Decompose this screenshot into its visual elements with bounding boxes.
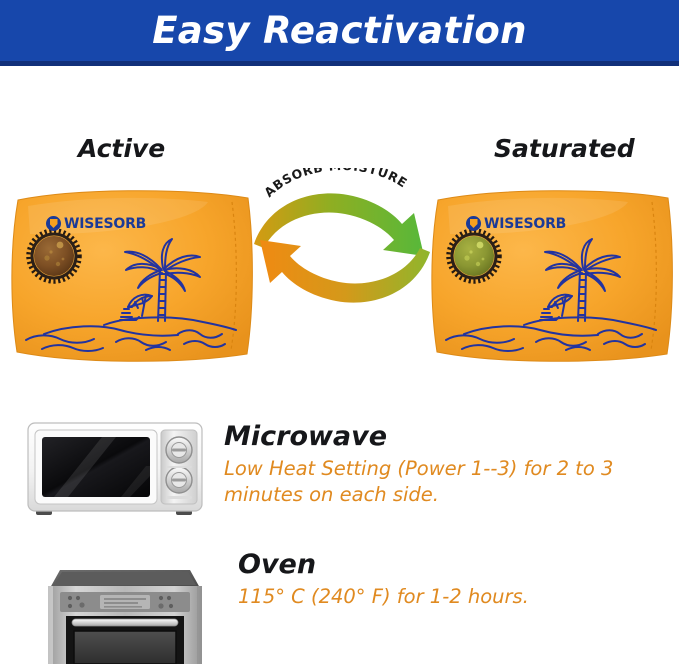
page-title: Easy Reactivation: [152, 9, 527, 52]
instruction-row-microwave: Microwave Low Heat Setting (Power 1--3) …: [0, 408, 679, 540]
state-label-active: Active: [78, 134, 165, 163]
state-label-saturated: Saturated: [494, 134, 635, 163]
absorb-moisture-cycle: ABSORB MOISTURE: [252, 168, 432, 328]
oven-text-block: Oven 115° C (240° F) for 1-2 hours.: [238, 540, 679, 610]
wisesorb-shield-icon: [466, 216, 481, 231]
brand-logo-saturated: WISESORB: [466, 216, 566, 231]
desiccant-bag-active: WISESORB: [8, 184, 256, 366]
microwave-description: Low Heat Setting (Power 1--3) for 2 to 3…: [224, 456, 634, 507]
brand-logo-active: WISESORB: [46, 216, 146, 231]
brand-name: WISESORB: [64, 217, 146, 231]
oven-title: Oven: [238, 550, 679, 580]
desiccant-bag-saturated: WISESORB: [428, 184, 676, 366]
instructions-section: Microwave Low Heat Setting (Power 1--3) …: [0, 408, 679, 670]
microwave-text-block: Microwave Low Heat Setting (Power 1--3) …: [224, 408, 679, 507]
header-banner: Easy Reactivation: [0, 0, 679, 66]
microwave-icon: [24, 416, 224, 522]
oven-description: 115° C (240° F) for 1-2 hours.: [238, 584, 648, 609]
instruction-row-oven: Oven 115° C (240° F) for 1-2 hours.: [0, 540, 679, 670]
oven-icon: [38, 552, 238, 664]
brand-name: WISESORB: [484, 217, 566, 231]
comparison-section: Active Saturated: [0, 72, 679, 402]
wisesorb-shield-icon: [46, 216, 61, 231]
microwave-title: Microwave: [224, 422, 679, 452]
